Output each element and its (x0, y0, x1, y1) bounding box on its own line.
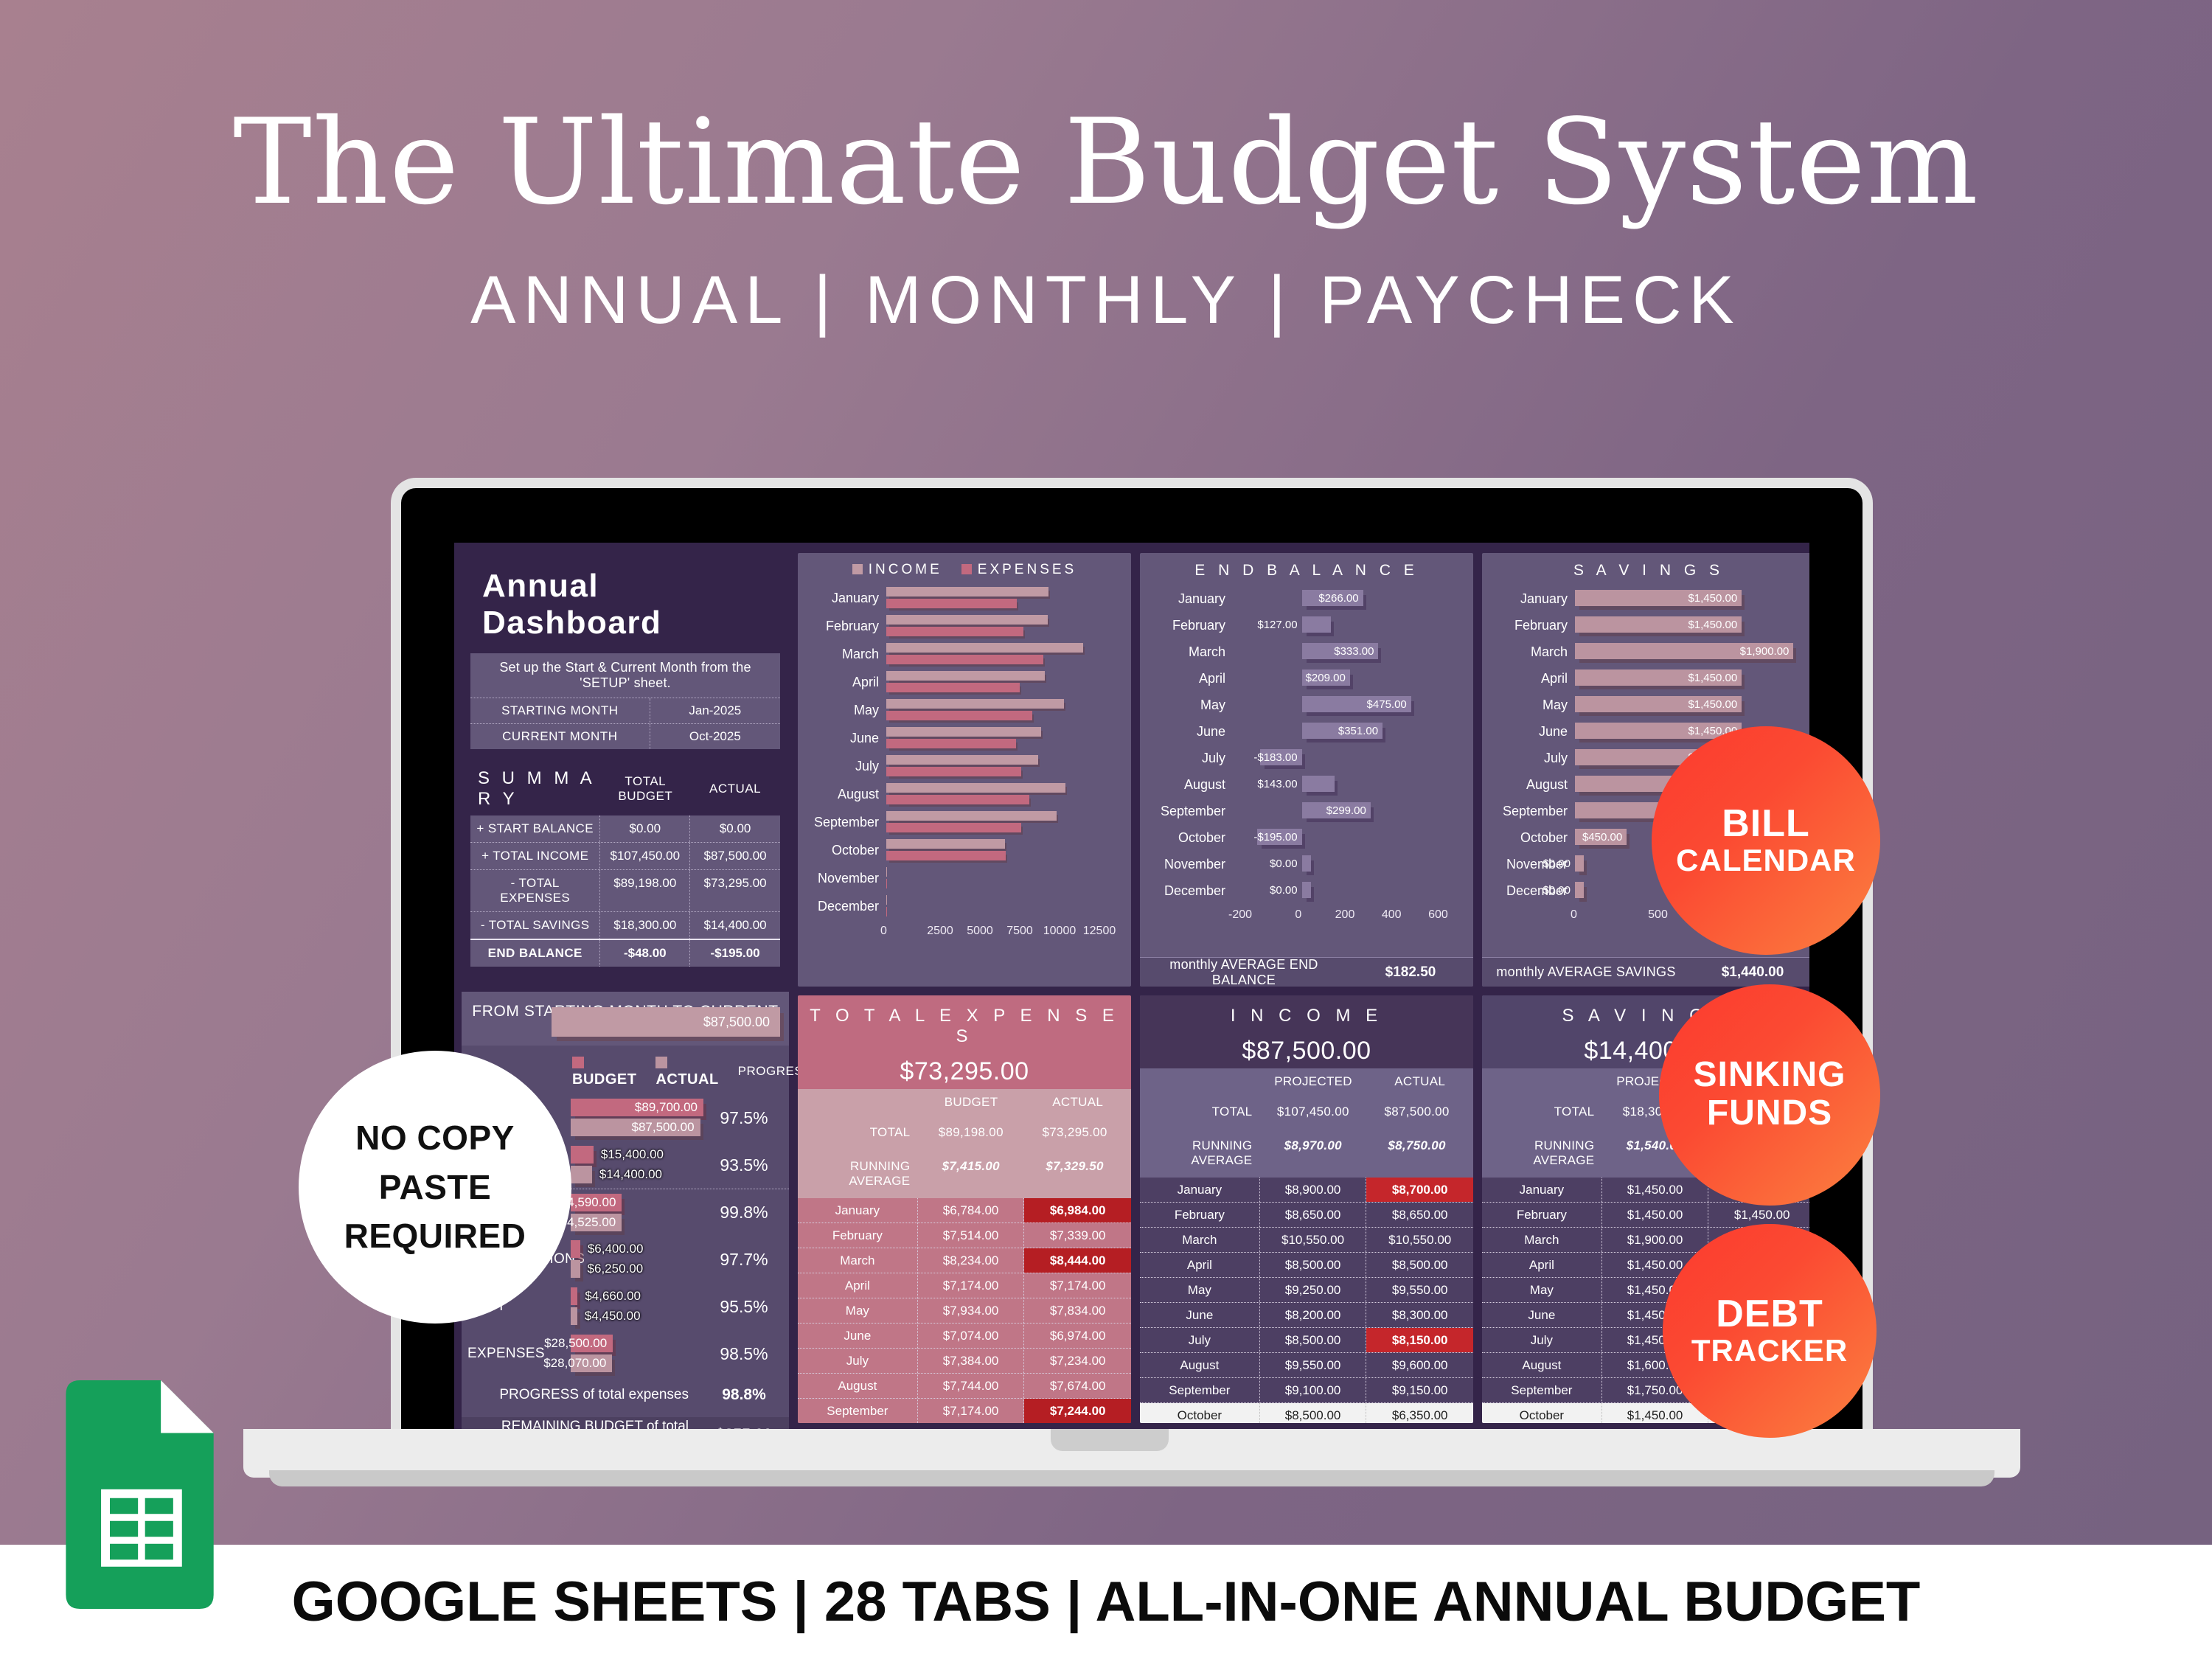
chart-bar-value: $0.00 (1543, 884, 1571, 897)
badge-line-2: PASTE (379, 1163, 491, 1212)
table-cell-col2: $8,444.00 (1024, 1248, 1131, 1273)
table-row: October$8,500.00$6,350.00 (1140, 1403, 1473, 1423)
table-row: August$7,744.00$7,674.00 (798, 1374, 1131, 1399)
chart-bar-row: May$475.00 (1144, 692, 1463, 718)
table-cell-col1: $7,074.00 (918, 1324, 1025, 1348)
chart-category-label: March (804, 647, 886, 662)
chart-bar-value: $1,450.00 (1688, 592, 1737, 605)
starting-month-value[interactable]: Jan-2025 (650, 698, 780, 723)
chart-bar-row: October-$195.00 (1144, 824, 1463, 851)
setup-box: Set up the Start & Current Month from th… (470, 653, 780, 749)
table-cell-month: March (1140, 1228, 1260, 1252)
chart-category-label: July (1144, 751, 1233, 766)
table-cell-month: March (1482, 1228, 1602, 1252)
progress-summary-row: PROGRESS of total expenses 98.8% (462, 1377, 789, 1413)
chart-bar-value: $333.00 (1334, 645, 1374, 658)
savings-chart-title: S A V I N G S (1482, 553, 1809, 582)
laptop-base-shadow (269, 1470, 1994, 1486)
axis-tick-label: 600 (1415, 908, 1461, 922)
summary-col-actual: ACTUAL (690, 782, 780, 796)
table-row: May$9,250.00$9,550.00 (1140, 1278, 1473, 1303)
table-cell-month: September (1482, 1378, 1602, 1402)
table-cell-month: July (1140, 1328, 1260, 1352)
chart-category-label: October (1486, 830, 1575, 846)
chart-bar-value: $143.00 (1257, 778, 1297, 790)
table-cell-month: May (1482, 1278, 1602, 1302)
chart-bar-group: November (804, 864, 1119, 892)
table-cell-month: April (1140, 1253, 1260, 1277)
summary-row-actual: $0.00 (690, 815, 780, 842)
table-row: March$8,234.00$8,444.00 (798, 1248, 1131, 1273)
legend-item-budget: BUDGET (572, 1054, 636, 1088)
axis-tick-label: 2500 (920, 925, 960, 938)
chart-bar-expenses (886, 683, 1020, 692)
laptop-screen: Annual Dashboard Set up the Start & Curr… (454, 543, 1809, 1429)
total-expenses-title: T O T A L E X P E N S E S (798, 1006, 1131, 1047)
table-cell-col1: $8,500.00 (1260, 1253, 1367, 1277)
chart-bar: $0.00 (1575, 882, 1584, 898)
axis-tick-label: 7500 (1000, 925, 1040, 938)
chart-bar: $351.00 (1302, 723, 1383, 739)
chart-bar-row: February$127.00 (1144, 612, 1463, 639)
chart-category-label: August (1144, 777, 1233, 793)
chart-category-label: July (804, 759, 886, 774)
setup-row-current-month: CURRENT MONTH Oct-2025 (470, 723, 780, 749)
income-headline: $87,500.00 (1140, 1037, 1473, 1065)
income-caption: I N C O M E $87,500.00 (1140, 995, 1473, 1068)
chart-bar-row: June$351.00 (1144, 718, 1463, 745)
chart-bar-group: February (804, 612, 1119, 640)
progress-bar-budget: $6,400.00 (571, 1240, 580, 1258)
chart-bar-group: July (804, 752, 1119, 780)
badge-line-2: FUNDS (1707, 1094, 1832, 1133)
table-cell-col2: $8,700.00 (1366, 1178, 1473, 1202)
progress-percent: 97.5% (703, 1108, 785, 1128)
progress-bar-budget: $15,400.00 (571, 1146, 594, 1164)
badge-debt-tracker[interactable]: DEBT TRACKER (1663, 1224, 1877, 1438)
summary-row-actual: $14,400.00 (690, 912, 780, 939)
chart-bar: $1,900.00 (1575, 643, 1793, 659)
legend-item-income: INCOME (852, 562, 942, 578)
progress-bar-budget: $89,700.00 (571, 1099, 703, 1116)
chart-bar-income (886, 699, 1064, 709)
table-cell-col2: $7,834.00 (1024, 1298, 1131, 1323)
progress-budget-value: $6,400.00 (588, 1242, 644, 1256)
table-cell-col1: $8,200.00 (1260, 1303, 1367, 1327)
chart-category-label: January (1486, 591, 1575, 607)
summary-row-budget: $18,300.00 (600, 912, 690, 939)
table-row: February$7,514.00$7,339.00 (798, 1223, 1131, 1248)
google-sheets-icon (44, 1380, 221, 1609)
end-balance-footer: monthly AVERAGE END BALANCE $182.50 (1140, 957, 1473, 987)
table-cell-col1: $7,384.00 (918, 1349, 1025, 1373)
chart-bar-value: $1,450.00 (1688, 698, 1737, 711)
summary-row-budget: $89,198.00 (600, 870, 690, 911)
chart-bar-income (886, 615, 1048, 625)
chart-bar: $209.00 (1302, 669, 1350, 686)
table-cell-month: April (798, 1273, 918, 1298)
summary-row-name: END BALANCE (470, 940, 600, 967)
chart-bar-value: $450.00 (1582, 831, 1622, 844)
progress-summary-label: PROGRESS of total expenses (467, 1387, 703, 1403)
chart-category-label: August (1486, 777, 1575, 793)
table-cell-col2: $9,150.00 (1366, 1378, 1473, 1402)
chart-bar-expenses (886, 879, 887, 888)
savings-avg-label: monthly AVERAGE SAVINGS (1482, 964, 1690, 980)
table-row: July$7,384.00$7,234.00 (798, 1349, 1131, 1374)
table-row: August$9,550.00$9,600.00 (1140, 1353, 1473, 1378)
axis-tick-label: 5000 (960, 925, 1000, 938)
progress-bar-budget: $4,660.00 (571, 1287, 577, 1305)
income-expenses-chart: INCOME EXPENSES JanuaryFebruaryMarchApri… (798, 553, 1131, 987)
chart-bar-group: June (804, 724, 1119, 752)
table-cell-month: September (1140, 1378, 1260, 1402)
badge-bill-calendar[interactable]: BILL CALENDAR (1652, 726, 1880, 955)
chart-category-label: September (1486, 804, 1575, 819)
chart-bar: $1,450.00 (1575, 616, 1742, 633)
table-cell-month: January (1482, 1178, 1602, 1202)
progress-percent: 93.5% (703, 1155, 785, 1175)
table-cell-month: August (1482, 1353, 1602, 1377)
chart-category-label: August (804, 787, 886, 802)
chart-bar-income (886, 643, 1083, 653)
badge-line-1: NO COPY (355, 1113, 515, 1163)
chart-category-label: October (1144, 830, 1233, 846)
table-cell-month: January (798, 1198, 918, 1222)
table-cell-col2: $7,339.00 (1024, 1223, 1131, 1248)
table-cell-month: July (798, 1349, 918, 1373)
chart-category-label: January (804, 591, 886, 606)
progress-percent: 98.5% (703, 1344, 785, 1364)
summary-row-name: + START BALANCE (470, 815, 600, 842)
badge-line-2: CALENDAR (1676, 844, 1856, 877)
badge-line-1: DEBT (1716, 1294, 1823, 1335)
chart-bar-row: March$1,900.00 (1486, 639, 1805, 665)
table-cell-month: August (798, 1374, 918, 1398)
chart-bar-group: December (804, 892, 1119, 920)
progress-budget-value: $89,700.00 (635, 1100, 698, 1115)
chart-bar: $475.00 (1302, 696, 1411, 712)
chart-category-label: September (804, 815, 886, 830)
table-cell-col2: $8,150.00 (1366, 1328, 1473, 1352)
chart-bar: $0.00 (1302, 882, 1311, 898)
end-balance-avg-label: monthly AVERAGE END BALANCE (1140, 957, 1348, 987)
chart-bar-row: July-$183.00 (1144, 745, 1463, 771)
chart-category-label: April (804, 675, 886, 690)
table-cell-col2: $7,234.00 (1024, 1349, 1131, 1373)
column-header-actual: ACTUAL (1366, 1068, 1473, 1095)
total-row-label: TOTAL (1486, 1101, 1603, 1123)
current-month-value[interactable]: Oct-2025 (650, 724, 780, 749)
axis-tick-label: 200 (1321, 908, 1368, 922)
table-cell-col1: $8,234.00 (918, 1248, 1025, 1273)
dashboard-title: Annual Dashboard (482, 568, 780, 641)
table-cell-month: September (798, 1399, 918, 1423)
chart-bar: $333.00 (1302, 643, 1379, 659)
column-header-actual: ACTUAL (1024, 1089, 1131, 1116)
table-row: July$8,500.00$8,150.00 (1140, 1328, 1473, 1353)
progress-budget-value: $15,400.00 (601, 1147, 664, 1162)
chart-bar: $1,450.00 (1575, 669, 1742, 686)
badge-line-1: BILL (1722, 804, 1810, 844)
summary-row-name: - TOTAL EXPENSES (470, 870, 600, 911)
income-table: I N C O M E $87,500.00 PROJECTED ACTUAL … (1140, 995, 1473, 1423)
running-average-label: RUNNING AVERAGE (1144, 1135, 1261, 1172)
table-cell-month: October (1482, 1403, 1602, 1423)
progress-summary-value: 98.8% (703, 1386, 785, 1404)
table-cell-col2: $7,244.00 (1024, 1399, 1131, 1423)
badge-line-2: TRACKER (1691, 1334, 1848, 1368)
total-expenses-headline: $73,295.00 (798, 1057, 1131, 1086)
chart-bar-income (886, 671, 1045, 681)
chart-category-label: April (1144, 671, 1233, 686)
chart-bar-expenses (886, 655, 1043, 664)
table-cell-month: February (1482, 1203, 1602, 1227)
savings-avg-value: $1,440.00 (1690, 964, 1809, 981)
chart-bar-value: $299.00 (1326, 804, 1366, 817)
badge-line-1: SINKING (1693, 1057, 1846, 1093)
table-row: March$10,550.00$10,550.00 (1140, 1228, 1473, 1253)
table-cell-col1: $6,784.00 (918, 1198, 1025, 1222)
table-row: January$6,784.00$6,984.00 (798, 1198, 1131, 1223)
chart-bar-expenses (886, 907, 887, 917)
setup-row-starting-month: STARTING MONTH Jan-2025 (470, 698, 780, 723)
chart-category-label: January (1144, 591, 1233, 607)
table-cell-col2: $6,350.00 (1366, 1403, 1473, 1423)
chart-bar-row: November$0.00 (1144, 851, 1463, 877)
table-column-headers: BUDGET ACTUAL (798, 1089, 1131, 1116)
chart-bar-value: $0.00 (1270, 884, 1298, 897)
summary-header: S U M M A R Y TOTAL BUDGET ACTUAL (470, 768, 780, 810)
table-row: February$8,650.00$8,650.00 (1140, 1203, 1473, 1228)
chart-bar-income (886, 587, 1048, 597)
table-cell-col2: $9,550.00 (1366, 1278, 1473, 1302)
setup-note: Set up the Start & Current Month from th… (470, 653, 780, 698)
chart-bar-income (886, 755, 1038, 765)
table-column-headers: PROJECTED ACTUAL (1140, 1068, 1473, 1095)
chart-bar-expenses (886, 599, 1017, 608)
axis-tick-label: 0 (880, 925, 920, 938)
chart-bar: $1,450.00 (1575, 590, 1742, 606)
table-cell-month: October (1140, 1403, 1260, 1423)
progress-bar-actual: $34,525.00 (571, 1214, 622, 1231)
running-average-actual: $8,750.00 (1365, 1135, 1469, 1172)
table-cell-month: June (1482, 1303, 1602, 1327)
chart-bar: $0.00 (1575, 855, 1584, 872)
summary-row-budget: $107,450.00 (600, 843, 690, 869)
chart-bar: $0.00 (1302, 855, 1311, 872)
chart-legend: INCOME EXPENSES (798, 553, 1131, 582)
summary-row-budget: $0.00 (600, 815, 690, 842)
summary-row-name: - TOTAL SAVINGS (470, 912, 600, 939)
annual-dashboard: Annual Dashboard Set up the Start & Curr… (454, 543, 1809, 1429)
laptop-mockup: Annual Dashboard Set up the Start & Curr… (391, 478, 1873, 1429)
laptop-trackpad-notch (1051, 1429, 1169, 1451)
chart-category-label: December (804, 899, 886, 914)
table-row: + START BALANCE $0.00 $0.00 (470, 815, 780, 842)
chart-category-label: September (1144, 804, 1233, 819)
badge-sinking-funds[interactable]: SINKING FUNDS (1659, 984, 1880, 1206)
chart-category-label: December (1144, 883, 1233, 899)
chart-bar: $127.00 (1302, 616, 1332, 633)
dashboard-header-block: Annual Dashboard Set up the Start & Curr… (462, 553, 789, 980)
progress-actual-value: $28,070.00 (543, 1356, 606, 1371)
summary-row-budget: -$48.00 (600, 940, 690, 967)
chart-bar-group: April (804, 668, 1119, 696)
chart-category-label: April (1486, 671, 1575, 686)
hero-header: The Ultimate Budget System ANNUAL | MONT… (0, 0, 2212, 472)
total-row-label: TOTAL (1144, 1101, 1261, 1123)
progress-bar-budget: $28,500.00 (571, 1335, 613, 1352)
table-cell-col2: $9,600.00 (1366, 1353, 1473, 1377)
chart-bar: -$195.00 (1257, 829, 1302, 845)
table-cell-col1: $7,174.00 (918, 1273, 1025, 1298)
chart-bar: -$183.00 (1260, 749, 1302, 765)
table-row: September$9,100.00$9,150.00 (1140, 1378, 1473, 1403)
table-row: April$7,174.00$7,174.00 (798, 1273, 1131, 1298)
chart-bar-value: $351.00 (1338, 725, 1378, 737)
progress-bar-actual: $28,070.00 (571, 1354, 612, 1372)
table-cell-month: May (798, 1298, 918, 1323)
expenses-month-rows: January$6,784.00$6,984.00February$7,514.… (798, 1198, 1131, 1423)
table-cell-col2: $7,174.00 (1024, 1273, 1131, 1298)
chart-bar-value: $1,900.00 (1740, 645, 1790, 658)
income-month-rows: January$8,900.00$8,700.00February$8,650.… (1140, 1178, 1473, 1423)
legend-item-expenses: EXPENSES (961, 562, 1077, 578)
total-expenses-caption: T O T A L E X P E N S E S $73,295.00 (798, 995, 1131, 1089)
table-cell-col1: $9,550.00 (1260, 1353, 1367, 1377)
badge-no-copy-paste[interactable]: NO COPY PASTE REQUIRED (299, 1051, 571, 1324)
chart-bar-row: January$266.00 (1144, 585, 1463, 612)
chart-bar-group: May (804, 696, 1119, 724)
chart-bar-expenses (886, 711, 1032, 720)
savings-footer: monthly AVERAGE SAVINGS $1,440.00 (1482, 957, 1809, 987)
table-cell-col1: $1,450.00 (1602, 1178, 1709, 1202)
chart-category-label: June (1144, 724, 1233, 740)
progress-percent: 97.7% (703, 1250, 785, 1270)
chart-category-label: July (1486, 751, 1575, 766)
chart-category-label: May (1486, 698, 1575, 713)
table-cell-col1: $10,550.00 (1260, 1228, 1367, 1252)
table-cell-month: July (1482, 1328, 1602, 1352)
chart-bar-value: -$195.00 (1253, 831, 1297, 844)
summary-table: + START BALANCE $0.00 $0.00 + TOTAL INCO… (470, 815, 780, 967)
chart-x-axis: -2000200400600 (1228, 908, 1473, 922)
running-average-label: RUNNING AVERAGE (1486, 1135, 1603, 1172)
chart-bar-group: August (804, 780, 1119, 808)
chart-bar: $299.00 (1302, 802, 1371, 818)
remaining-budget-row: REMAINING BUDGET of total expenses $855.… (462, 1417, 789, 1429)
income-title: I N C O M E (1140, 1006, 1473, 1026)
dashboard-left-column: Annual Dashboard Set up the Start & Curr… (462, 553, 789, 987)
running-average-label: RUNNING AVERAGE (802, 1155, 919, 1192)
chart-bar: $1,450.00 (1575, 696, 1742, 712)
progress-row: EXPENSES$28,500.00$28,070.0098.5% (462, 1330, 789, 1377)
table-cell-col1: $7,934.00 (918, 1298, 1025, 1323)
total-row-budget: $89,198.00 (919, 1121, 1023, 1144)
page-subtitle: ANNUAL | MONTHLY | PAYCHECK (470, 262, 1742, 339)
chart-bar-expenses (886, 851, 1006, 860)
chart-category-label: October (804, 843, 886, 858)
total-row-actual: $87,500.00 (1365, 1101, 1469, 1123)
progress-bar-actual: $14,400.00 (571, 1166, 592, 1183)
chart-bar-row: August$143.00 (1144, 771, 1463, 798)
axis-tick-label: 400 (1368, 908, 1415, 922)
column-header-budget: BUDGET (918, 1089, 1025, 1116)
total-expenses-table: T O T A L E X P E N S E S $73,295.00 BUD… (798, 995, 1131, 1423)
table-cell-month: June (798, 1324, 918, 1348)
progress-bar-actual: $4,450.00 (571, 1307, 577, 1325)
chart-bar-value: -$183.00 (1253, 751, 1297, 764)
total-row-projected: $107,450.00 (1261, 1101, 1365, 1123)
chart-bar-expenses (886, 739, 1016, 748)
chart-bar-value: $266.00 (1318, 592, 1358, 605)
chart-bar-value: $0.00 (1543, 858, 1571, 870)
chart-bar-row: March$333.00 (1144, 639, 1463, 665)
chart-category-label: November (804, 871, 886, 886)
progress-actual-value: $87,500.00 (631, 1120, 694, 1135)
chart-bar-income (886, 867, 887, 877)
chart-category-label: June (1486, 724, 1575, 740)
table-row: June$7,074.00$6,974.00 (798, 1324, 1131, 1349)
chart-bar-value: $1,450.00 (1688, 672, 1737, 684)
column-header-projected: PROJECTED (1260, 1068, 1367, 1095)
chart-bar-group: September (804, 808, 1119, 836)
chart-bar-expenses (886, 823, 1021, 832)
table-cell-col1: $1,900.00 (1602, 1228, 1709, 1252)
table-row: - TOTAL SAVINGS $18,300.00 $14,400.00 (470, 911, 780, 939)
running-average-projected: $8,970.00 (1261, 1135, 1365, 1172)
progress-actual-value: $14,400.00 (599, 1167, 662, 1182)
axis-tick-label: 12500 (1079, 925, 1119, 938)
table-cell-month: June (1140, 1303, 1260, 1327)
summary-row-actual: -$195.00 (690, 940, 780, 967)
table-cell-col2: $6,984.00 (1024, 1198, 1131, 1222)
table-cell-col1: $8,500.00 (1260, 1328, 1367, 1352)
table-cell-col1: $1,450.00 (1602, 1203, 1709, 1227)
total-row-actual: $73,295.00 (1023, 1121, 1127, 1144)
chart-bar: $266.00 (1302, 590, 1363, 606)
chart-bar-income (886, 727, 1041, 737)
table-cell-col2: $6,974.00 (1024, 1324, 1131, 1348)
end-balance-chart: E N D B A L A N C E January$266.00Februa… (1140, 553, 1473, 987)
chart-category-label: March (1486, 644, 1575, 660)
table-cell-month: May (1140, 1278, 1260, 1302)
chart-category-label: November (1144, 857, 1233, 872)
progress-percent: 99.8% (703, 1203, 785, 1222)
table-cell-month: August (1140, 1353, 1260, 1377)
chart-bar-row: February$1,450.00 (1486, 612, 1805, 639)
axis-tick-label: 0 (1571, 908, 1629, 922)
chart-bar-group: October (804, 836, 1119, 864)
table-cell-col1: $1,450.00 (1602, 1403, 1709, 1423)
footer-text: GOOGLE SHEETS | 28 TABS | ALL-IN-ONE ANN… (292, 1570, 1921, 1634)
summary-row-actual: $73,295.00 (690, 870, 780, 911)
badge-line-3: REQUIRED (344, 1211, 526, 1261)
total-row-label: TOTAL (802, 1121, 919, 1144)
progress-percent: 95.5% (703, 1297, 785, 1317)
chart-bar-income (886, 839, 1005, 849)
chart-bar-group: January (804, 584, 1119, 612)
table-cell-col2: $10,550.00 (1366, 1228, 1473, 1252)
table-row: January$8,900.00$8,700.00 (1140, 1178, 1473, 1203)
table-cell-col1: $7,174.00 (918, 1399, 1025, 1423)
axis-tick-label: -200 (1228, 908, 1275, 922)
income-bar: $87,500.00 (552, 1007, 780, 1037)
table-row: - TOTAL EXPENSES $89,198.00 $73,295.00 (470, 869, 780, 911)
chart-x-axis: 02500500075001000012500 (880, 925, 1131, 938)
table-cell-col2: $8,500.00 (1366, 1253, 1473, 1277)
